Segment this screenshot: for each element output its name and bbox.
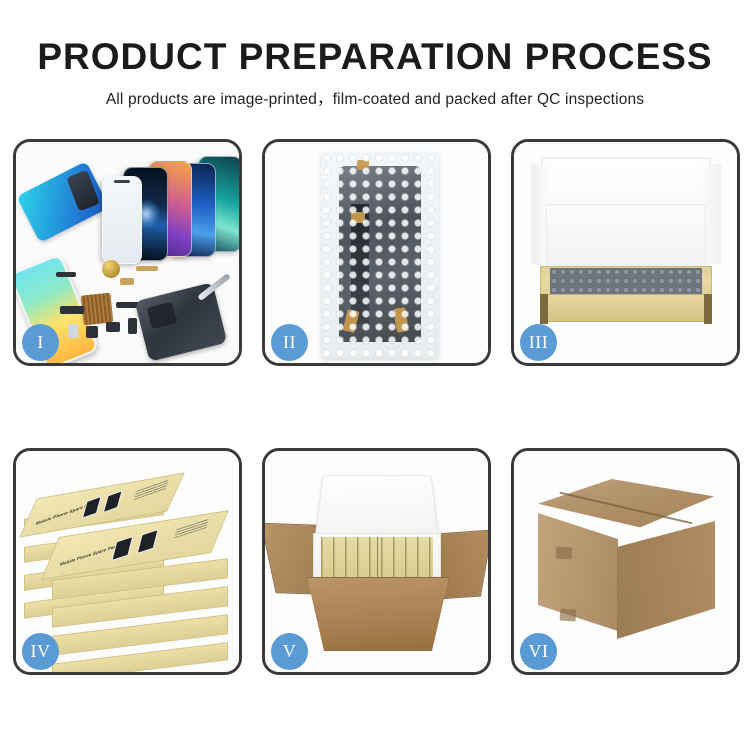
small-part-icon [128, 318, 137, 334]
process-step-grid: I II [13, 139, 739, 675]
phone-glass-icon [102, 176, 142, 264]
small-part-icon [120, 278, 134, 285]
process-step-panel-1: I [13, 139, 242, 366]
small-part-icon [60, 306, 84, 314]
foam-lid [315, 475, 440, 536]
small-part-icon [68, 324, 78, 338]
chip-grid-part-icon [81, 293, 114, 326]
step-badge-6: VI [520, 633, 557, 670]
carton-left-face [538, 513, 618, 631]
carton-tape-patch [560, 608, 577, 621]
process-step-panel-3: III [511, 139, 740, 366]
carton-right-face [617, 521, 715, 639]
kraft-tray-front [540, 294, 712, 322]
step-badge-3: III [520, 324, 557, 361]
foam-pad [546, 204, 706, 270]
bubble-fill [550, 268, 702, 296]
bubble-texture-overlay [321, 152, 439, 358]
gold-coin-part-icon [102, 260, 120, 278]
process-step-panel-2: II [262, 139, 491, 366]
bubble-wrap-bag [321, 152, 439, 358]
small-part-icon [86, 326, 98, 338]
step-badge-4: IV [22, 633, 59, 670]
header: PRODUCT PREPARATION PROCESS All products… [0, 38, 750, 109]
product-preparation-infographic: PRODUCT PREPARATION PROCESS All products… [0, 0, 750, 750]
small-part-icon [136, 266, 158, 271]
page-subtitle: All products are image-printed，film-coat… [0, 87, 750, 109]
step-badge-2: II [271, 324, 308, 361]
page-title: PRODUCT PREPARATION PROCESS [0, 38, 750, 77]
phone-chassis-icon [135, 282, 228, 362]
packed-retail-boxes [321, 537, 433, 583]
small-part-icon [56, 272, 76, 277]
process-step-panel-5: V [262, 448, 491, 675]
process-step-panel-4: Mobile Phone Spare Parts Mobile Phone Sp… [13, 448, 242, 675]
process-step-panel-6: VI [511, 448, 740, 675]
retail-box-stack: Mobile Phone Spare Parts Mobile Phone Sp… [22, 473, 237, 659]
small-part-icon [106, 322, 120, 332]
carton-tape-patch [556, 546, 573, 559]
phone-fan-group [82, 156, 242, 268]
carton-body [307, 577, 449, 651]
step-badge-1: I [22, 324, 59, 361]
step-badge-5: V [271, 633, 308, 670]
